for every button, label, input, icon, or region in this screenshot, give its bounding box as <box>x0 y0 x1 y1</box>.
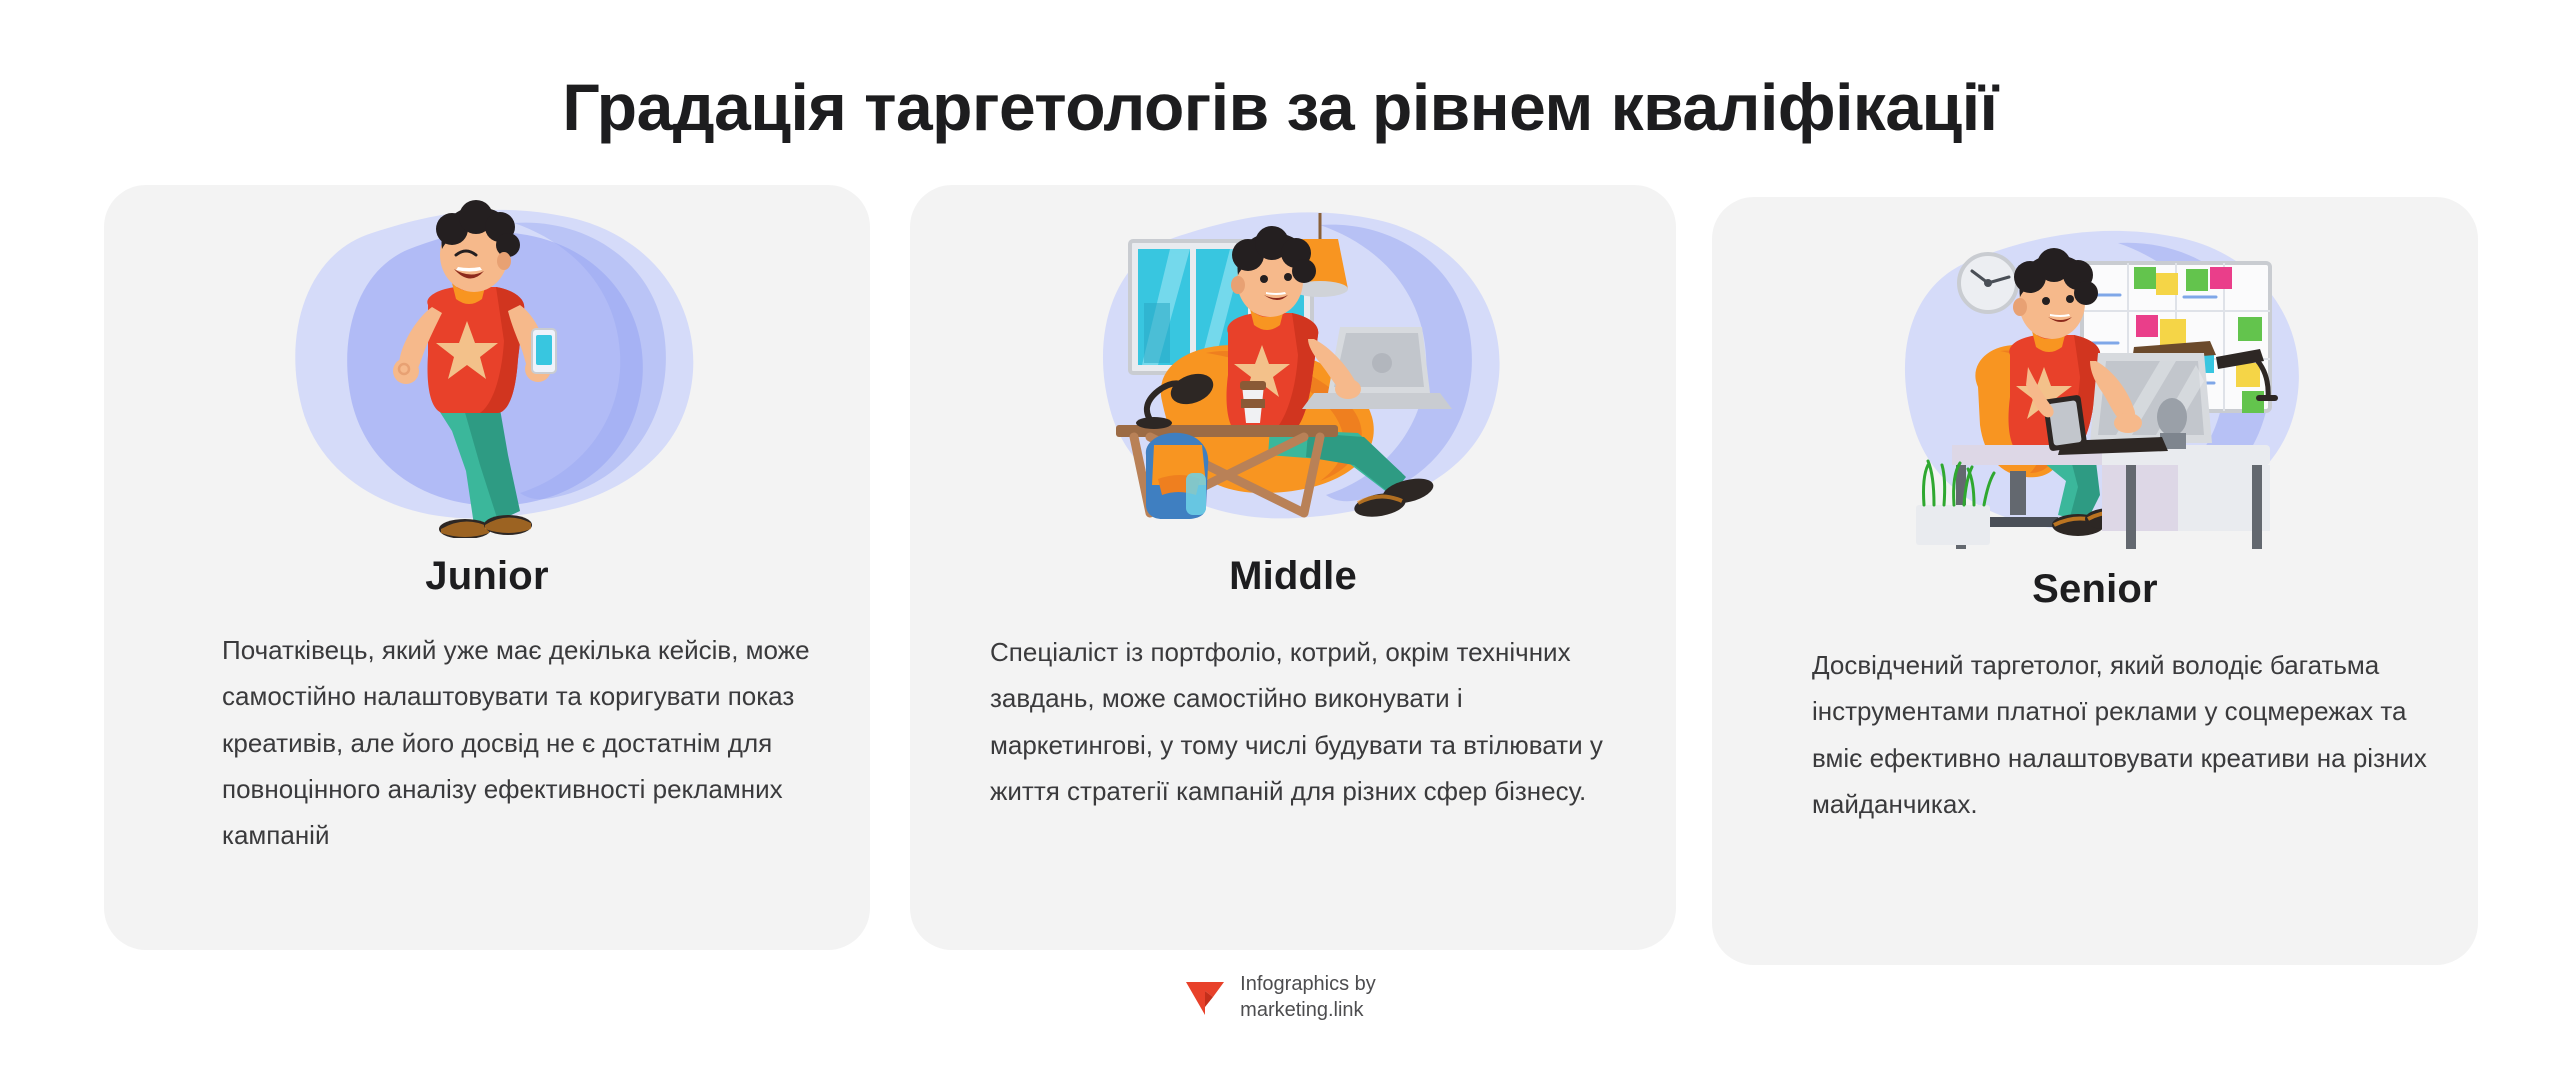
junior-illustration <box>104 193 870 538</box>
card-heading-middle: Middle <box>910 554 1676 599</box>
card-body-senior: Досвідчений таргетолог, який володіє баг… <box>1712 642 2478 827</box>
card-heading-senior: Senior <box>1712 567 2478 612</box>
card-middle[interactable]: Middle Спеціаліст із портфоліо, котрий, … <box>910 185 1676 950</box>
card-body-junior: Початківець, який уже має декілька кейсі… <box>104 627 870 858</box>
junior-illustration-svg <box>252 193 722 538</box>
middle-illustration <box>910 193 1676 538</box>
marketing-link-triangle-logo-icon <box>1184 979 1226 1017</box>
card-heading-junior: Junior <box>104 554 870 599</box>
footer-credit-text: Infographics by marketing.link <box>1240 972 1376 1023</box>
card-junior[interactable]: Junior Початківець, який уже має декільк… <box>104 185 870 950</box>
senior-illustration-svg <box>1860 205 2330 550</box>
middle-illustration-svg <box>1058 193 1528 538</box>
footer-credit: Infographics by marketing.link <box>0 972 2560 1023</box>
infographic-page: Градація таргетологів за рівнем кваліфік… <box>0 0 2560 1087</box>
senior-illustration <box>1712 205 2478 550</box>
card-body-middle: Спеціаліст із портфоліо, котрий, окрім т… <box>910 629 1676 814</box>
card-senior[interactable]: Senior Досвідчений таргетолог, який воло… <box>1712 197 2478 965</box>
cards-row: Junior Початківець, який уже має декільк… <box>0 0 2560 1087</box>
